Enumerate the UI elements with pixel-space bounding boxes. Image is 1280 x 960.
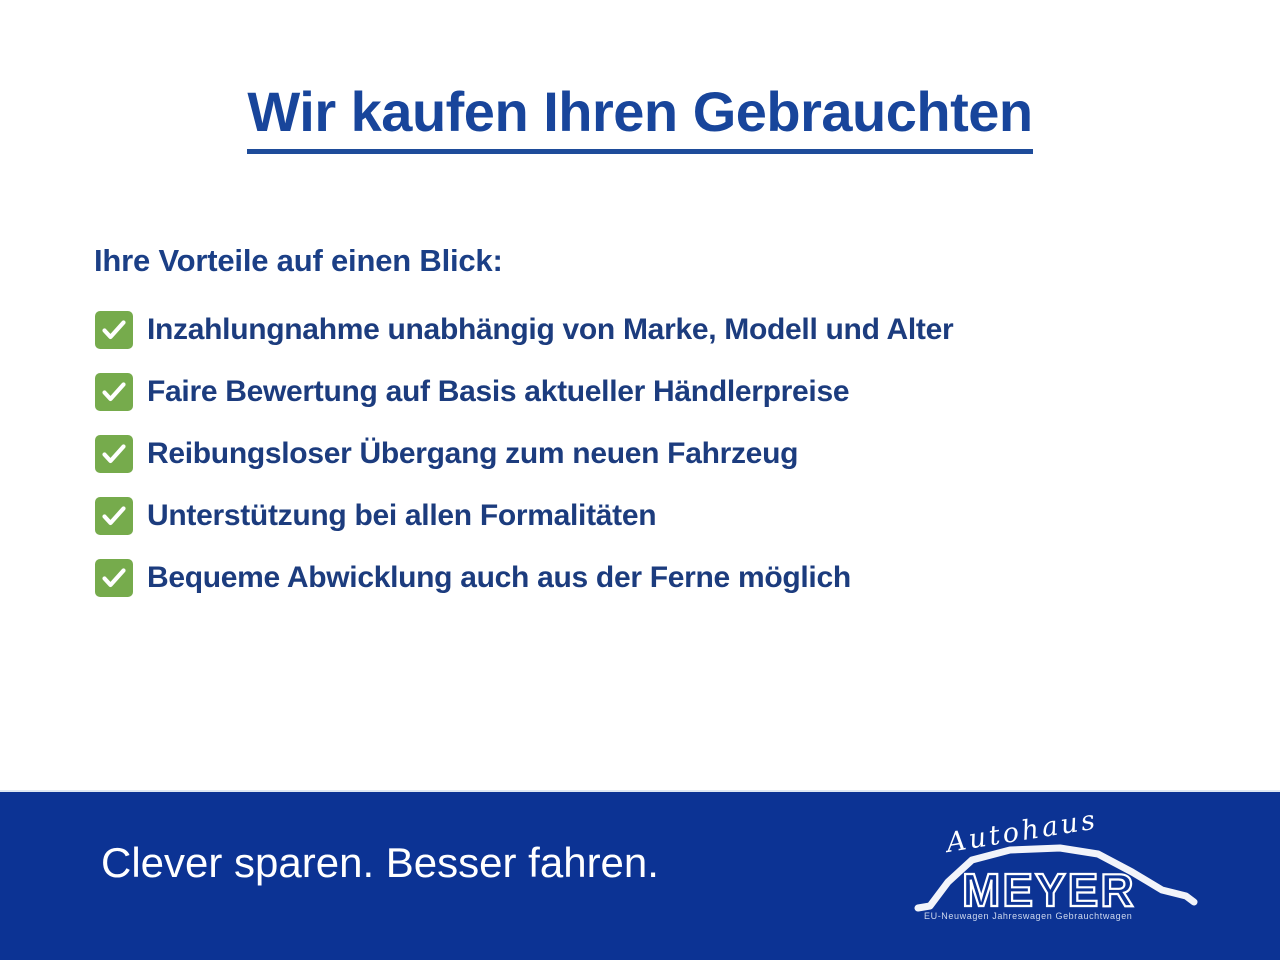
benefits-list: Inzahlungnahme unabhängig von Marke, Mod… [95,308,1215,618]
slide-canvas: Wir kaufen Ihren Gebrauchten Ihre Vortei… [0,0,1280,960]
list-item: Inzahlungnahme unabhängig von Marke, Mod… [95,308,1215,352]
logo-word-text: MEYER [962,864,1136,916]
list-item-label: Bequeme Abwicklung auch aus der Ferne mö… [147,562,851,594]
list-item: Reibungsloser Übergang zum neuen Fahrzeu… [95,432,1215,476]
list-item-label: Reibungsloser Übergang zum neuen Fahrzeu… [147,438,798,470]
page-title-container: Wir kaufen Ihren Gebrauchten [0,84,1280,154]
check-mark-icon [95,497,133,535]
footer-band: Clever sparen. Besser fahren. Autohaus M… [0,790,1280,960]
check-mark-icon [95,373,133,411]
subtitle-heading: Ihre Vorteile auf einen Blick: [94,243,503,279]
footer-tagline: Clever sparen. Besser fahren. [101,839,659,887]
company-logo: Autohaus MEYER EU-Neuwagen Jahreswagen G… [910,810,1200,930]
page-title: Wir kaufen Ihren Gebrauchten [247,84,1032,154]
check-mark-icon [95,435,133,473]
list-item-label: Faire Bewertung auf Basis aktueller Händ… [147,376,849,408]
check-mark-icon [95,559,133,597]
list-item: Bequeme Abwicklung auch aus der Ferne mö… [95,556,1215,600]
list-item: Unterstützung bei allen Formalitäten [95,494,1215,538]
check-mark-icon [95,311,133,349]
list-item: Faire Bewertung auf Basis aktueller Händ… [95,370,1215,414]
logo-subtitle-text: EU-Neuwagen Jahreswagen Gebrauchtwagen [924,911,1132,921]
list-item-label: Inzahlungnahme unabhängig von Marke, Mod… [147,314,953,346]
list-item-label: Unterstützung bei allen Formalitäten [147,500,656,532]
